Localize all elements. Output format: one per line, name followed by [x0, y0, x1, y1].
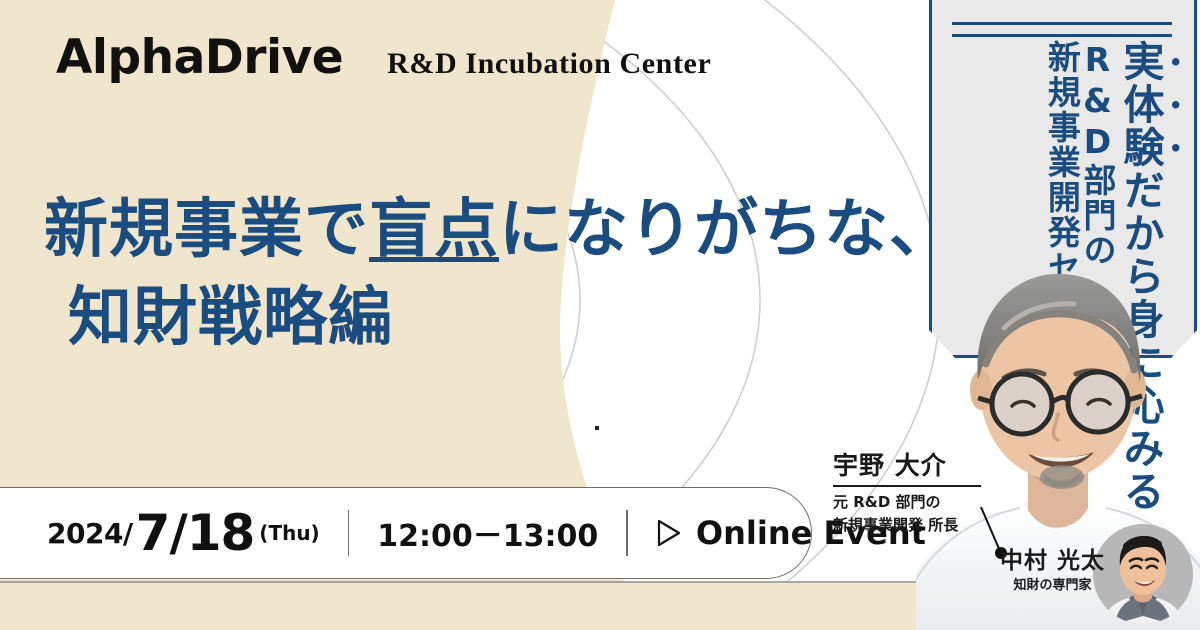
title-line-2: 知財戦略編	[68, 274, 954, 362]
event-day-of-week: (Thu)	[259, 521, 319, 545]
speaker-label-secondary: 中村 光太 知財の専門家	[1000, 548, 1105, 596]
speaker-name-primary: 宇野 大介	[833, 452, 981, 480]
title-line-1-part-c: になりがちな、	[499, 193, 954, 267]
info-divider-1	[348, 510, 350, 556]
seminar-text-emphasis: 実体験	[1116, 40, 1164, 169]
event-info-bar: 2024/ 7/18 (Thu) 12:00－13:00 Online Even…	[0, 487, 812, 579]
speaker-name-underline	[833, 485, 981, 487]
play-triangle-icon	[656, 518, 682, 548]
speaker-label-primary: 宇野 大介 元 R&D 部門の 新規事業開発 所長	[833, 452, 981, 537]
speaker-role-secondary: 知財の専門家	[1000, 576, 1105, 596]
seminar-box-double-rule	[952, 22, 1172, 37]
page-title: 新規事業で盲点になりがちな、 知財戦略編	[44, 186, 954, 363]
event-time-segment: 12:00－13:00	[377, 488, 598, 578]
alphadrive-logo: AlphaDrive	[56, 34, 343, 81]
title-emphasis-word: 盲点	[369, 193, 499, 267]
speaker-role-primary-line2: 新規事業開発 所長	[833, 514, 981, 537]
event-day: 7/18	[136, 504, 255, 562]
event-date-segment: 2024/ 7/18 (Thu)	[47, 488, 320, 578]
title-line-1-part-a: 新規事業で	[44, 193, 369, 267]
speaker-name-secondary: 中村 光太	[1000, 548, 1105, 574]
decorative-dot	[595, 426, 599, 430]
header-subtitle: R&D Incubation Center	[387, 49, 711, 79]
info-divider-2	[626, 510, 628, 556]
event-year: 2024/	[47, 517, 133, 550]
speaker-avatar-secondary	[1093, 524, 1193, 624]
event-banner: AlphaDrive R&D Incubation Center 新規事業で盲点…	[0, 0, 1200, 630]
seminar-text-col-2: R&D部門の	[1080, 40, 1114, 268]
event-time: 12:00－13:00	[377, 511, 598, 555]
speaker-role-primary-line1: 元 R&D 部門の	[833, 491, 981, 514]
title-line-1: 新規事業で盲点になりがちな、	[44, 186, 954, 274]
brand-header: AlphaDrive R&D Incubation Center	[56, 34, 711, 81]
